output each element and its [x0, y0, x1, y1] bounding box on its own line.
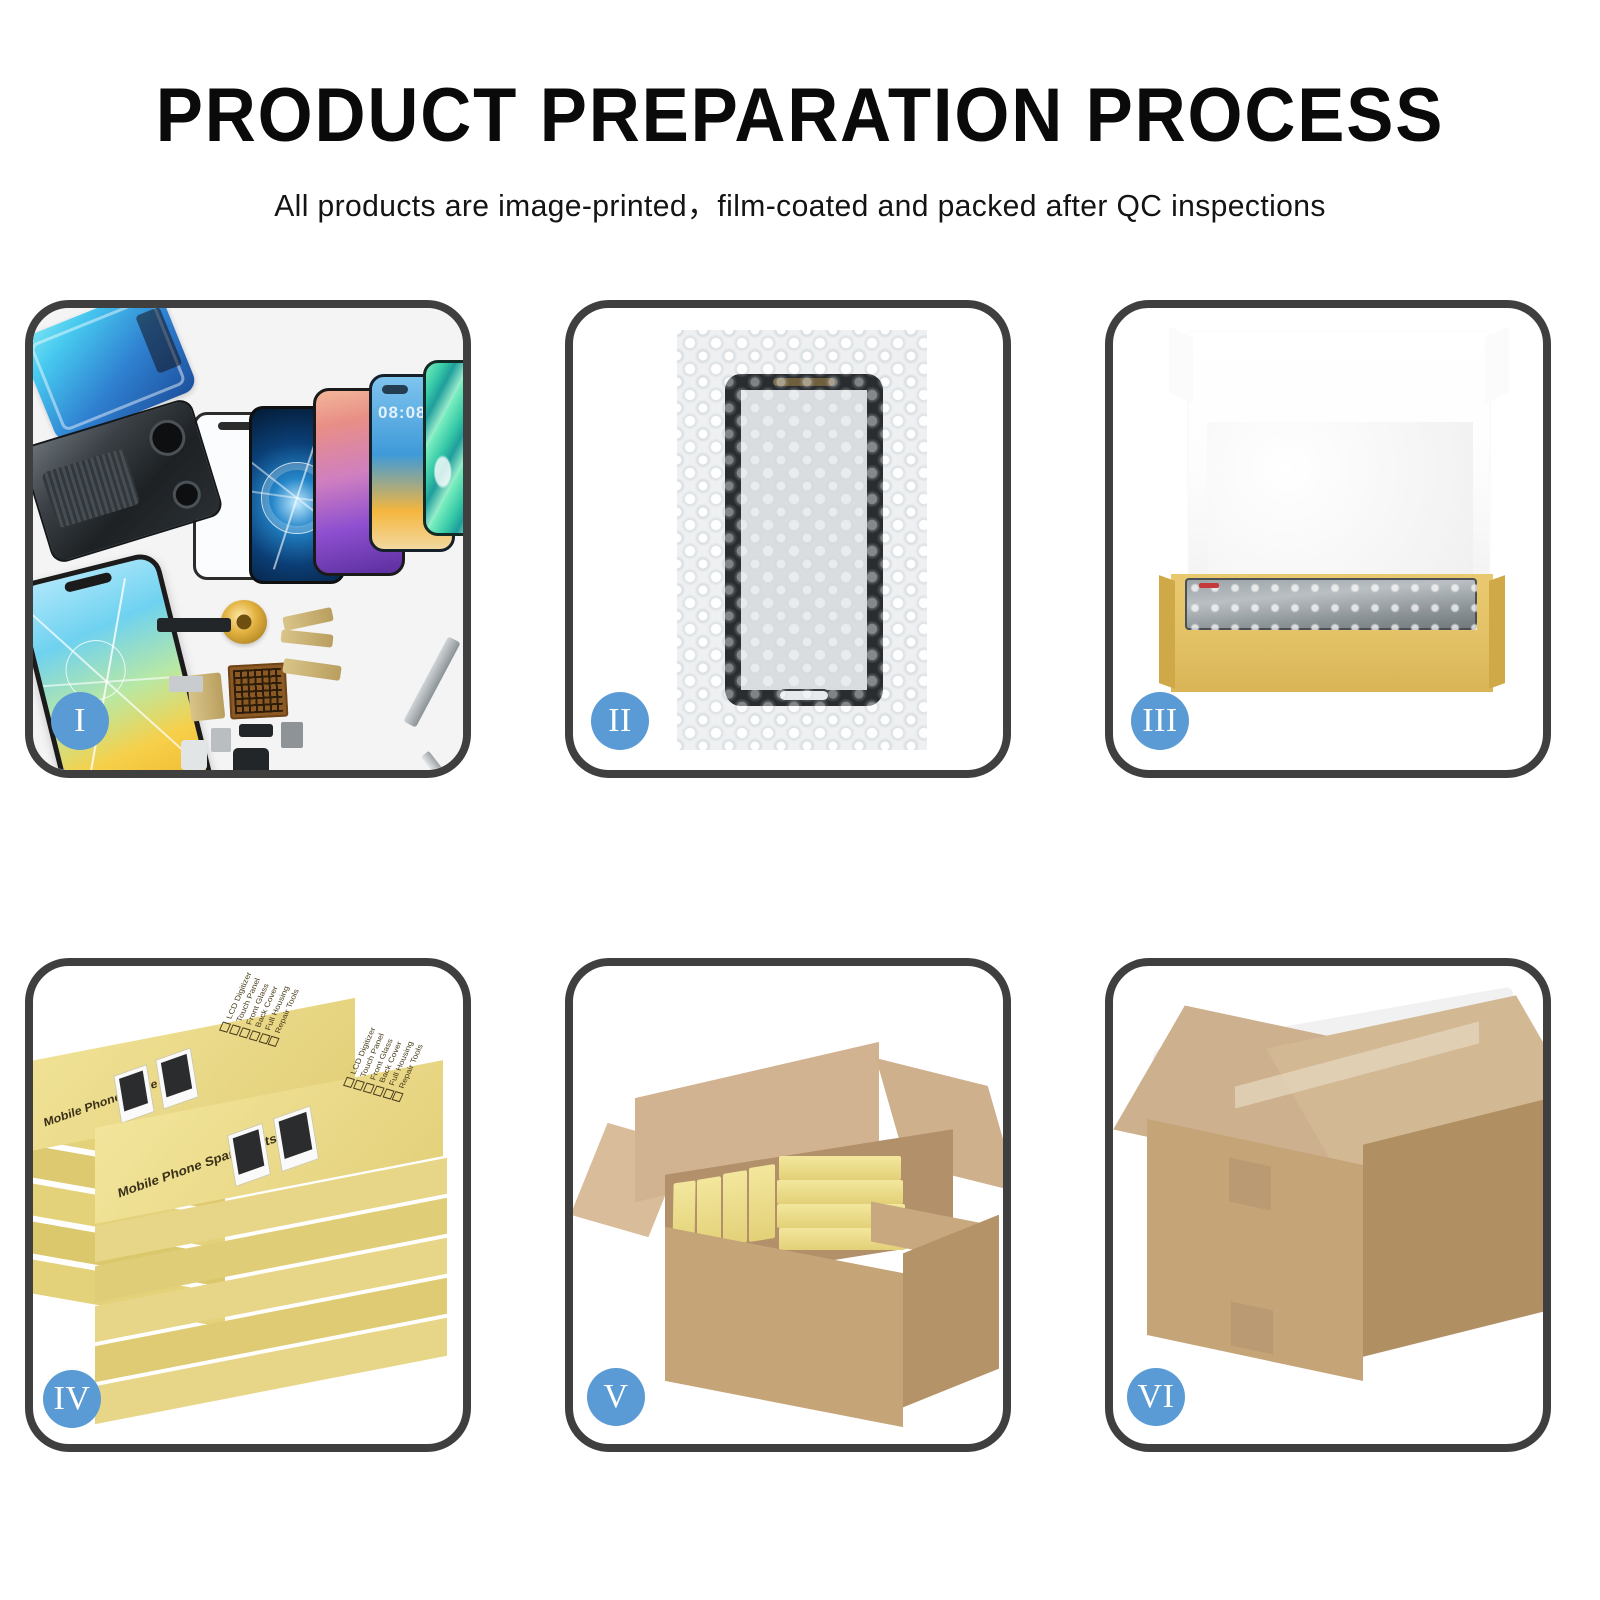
bubble-wrap-sheet — [677, 330, 927, 750]
earpiece-part — [157, 618, 231, 632]
step-badge-1: I — [51, 692, 109, 750]
carton-tape-tab-upper — [1229, 1158, 1271, 1211]
step-badge-3: III — [1131, 692, 1189, 750]
foam-insert — [1207, 422, 1473, 578]
connector-part-1 — [169, 676, 203, 692]
carton-front-face — [665, 1227, 903, 1427]
ic-chip-part — [228, 663, 289, 720]
camera-module-part — [281, 722, 303, 748]
speaker-part — [233, 748, 269, 770]
yellow-box-item — [779, 1156, 901, 1180]
yellow-box-item — [777, 1180, 903, 1204]
step-panel-1: 08:08 I — [25, 300, 471, 778]
step-panel-3: III — [1105, 300, 1551, 778]
step-panel-6: VI — [1105, 958, 1551, 1452]
step-badge-6: VI — [1127, 1368, 1185, 1426]
sealed-carton-side — [1363, 1099, 1543, 1356]
box-product-photo — [273, 1105, 319, 1172]
box-product-photo — [113, 1064, 154, 1124]
carton-tape-tab-lower — [1231, 1302, 1273, 1355]
phone-clock-label: 08:08 — [378, 403, 426, 423]
step-4-image: Mobile Phone Spare Parts LCD DigitizerTo… — [33, 966, 463, 1444]
box-checklist-2: LCD DigitizerTouch PanelFront GlassBack … — [343, 1026, 428, 1102]
yellow-box-item — [749, 1164, 775, 1242]
step-badge-5: V — [587, 1368, 645, 1426]
step-panel-4: Mobile Phone Spare Parts LCD DigitizerTo… — [25, 958, 471, 1452]
button-part — [211, 728, 231, 752]
sim-tray-part — [181, 740, 207, 770]
kraft-inner-box — [1171, 574, 1493, 692]
connector-part-2 — [239, 724, 273, 737]
step-5-image — [573, 966, 1003, 1444]
box-product-photo — [155, 1047, 199, 1109]
process-steps-grid: 08:08 I — [0, 0, 1600, 1600]
box-product-photo — [227, 1123, 271, 1187]
step-panel-5: V — [565, 958, 1011, 1452]
step-badge-4: IV — [43, 1370, 101, 1428]
step-badge-2: II — [591, 692, 649, 750]
step-panel-2: II — [565, 300, 1011, 778]
step-6-image — [1113, 966, 1543, 1444]
yellow-box-item — [723, 1170, 747, 1246]
green-swirl-phone-part — [423, 360, 463, 536]
wrapped-screen-in-box — [1185, 578, 1477, 630]
box-checklist-1: LCD DigitizerTouch PanelFront GlassBack … — [219, 971, 304, 1047]
